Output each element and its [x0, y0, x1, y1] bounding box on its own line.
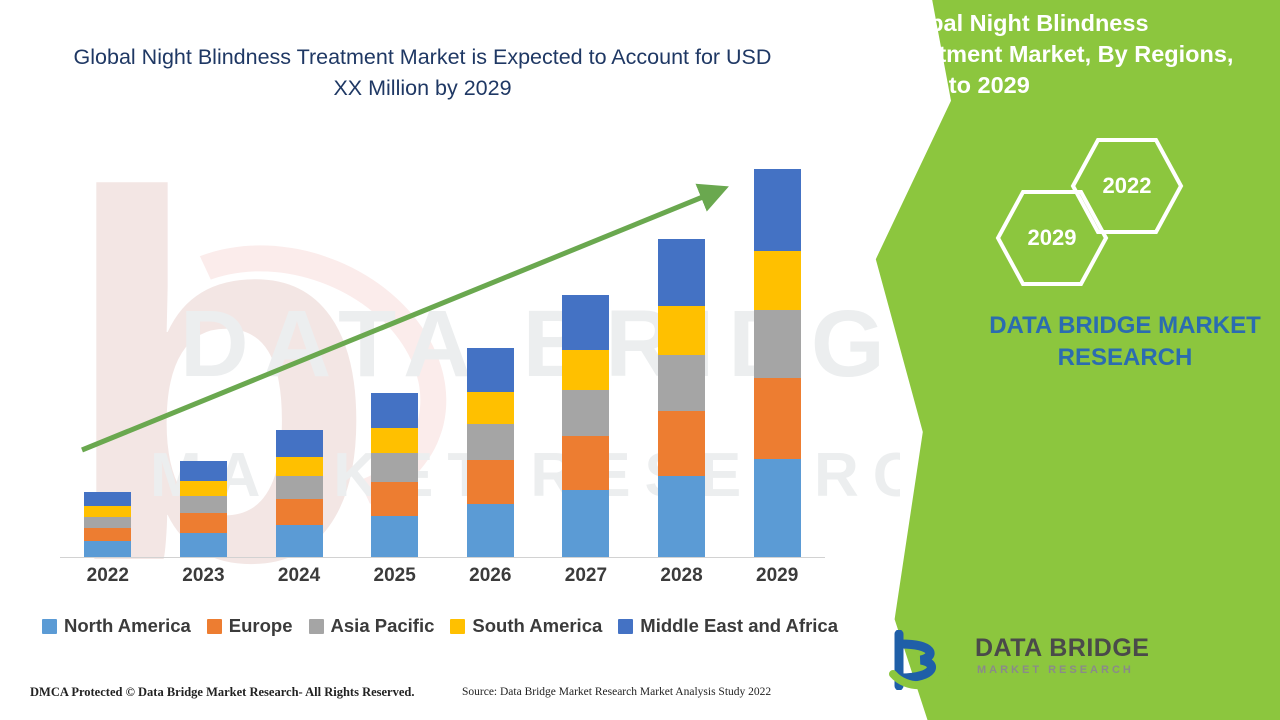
bar-segment[interactable]: [276, 499, 323, 525]
slide-root: b DATA BRIDGE MARKET RESEARCH Global Nig…: [0, 0, 1280, 720]
footer-copyright: DMCA Protected © Data Bridge Market Rese…: [30, 685, 415, 700]
bar-segment[interactable]: [467, 348, 514, 392]
bar-segment[interactable]: [180, 513, 227, 533]
bar-segment[interactable]: [467, 504, 514, 557]
x-axis-label: 2025: [347, 565, 443, 587]
bar-segment[interactable]: [754, 251, 801, 310]
x-axis-label: 2028: [634, 565, 730, 587]
bar-column[interactable]: [60, 110, 156, 557]
bar-segment[interactable]: [658, 355, 705, 411]
bar-column[interactable]: [538, 110, 634, 557]
chart-title: Global Night Blindness Treatment Market …: [60, 42, 785, 104]
bar-column[interactable]: [156, 110, 252, 557]
bar-segment[interactable]: [467, 392, 514, 424]
legend-swatch: [450, 619, 465, 634]
brand-label: DATA BRIDGE MARKET RESEARCH: [960, 310, 1280, 375]
legend-label: South America: [472, 615, 602, 637]
bar-segment[interactable]: [84, 492, 131, 506]
logo: DATA BRIDGE MARKET RESEARCH: [885, 630, 1115, 692]
legend-label: North America: [64, 615, 191, 637]
bar-segment[interactable]: [562, 390, 609, 436]
legend-item[interactable]: South America: [450, 615, 602, 637]
legend-label: Asia Pacific: [331, 615, 435, 637]
logo-name: DATA BRIDGE: [975, 634, 1149, 663]
bar-segment[interactable]: [658, 239, 705, 306]
bar-segment[interactable]: [754, 378, 801, 459]
bar-segment[interactable]: [276, 476, 323, 498]
stacked-bar[interactable]: [658, 239, 705, 557]
bar-segment[interactable]: [276, 430, 323, 457]
stacked-bar[interactable]: [562, 295, 609, 557]
bar-segment[interactable]: [562, 350, 609, 390]
x-axis-label: 2024: [251, 565, 347, 587]
bar-segment[interactable]: [84, 506, 131, 516]
x-axis-label: 2023: [156, 565, 252, 587]
data-bridge-logo-icon: [885, 630, 965, 690]
bar-segment[interactable]: [562, 436, 609, 490]
bar-segment[interactable]: [562, 490, 609, 557]
bar-segment[interactable]: [562, 295, 609, 350]
bar-segment[interactable]: [276, 525, 323, 557]
bar-segment[interactable]: [371, 393, 418, 428]
legend-item[interactable]: North America: [42, 615, 191, 637]
bar-segment[interactable]: [754, 459, 801, 557]
hexagon-2022-label: 2022: [1103, 173, 1152, 199]
x-axis-line: [60, 557, 825, 558]
legend-swatch: [618, 619, 633, 634]
bar-segment[interactable]: [180, 461, 227, 482]
hexagon-2022: 2022: [1068, 134, 1186, 238]
bar-segment[interactable]: [84, 528, 131, 541]
bar-segment[interactable]: [371, 516, 418, 557]
hexagon-2029-label: 2029: [1028, 225, 1077, 251]
stacked-bar[interactable]: [754, 169, 801, 557]
x-axis-label: 2027: [538, 565, 634, 587]
bar-segment[interactable]: [371, 482, 418, 516]
legend-swatch: [309, 619, 324, 634]
bar-segment[interactable]: [658, 306, 705, 355]
bar-column[interactable]: [251, 110, 347, 557]
bar-segment[interactable]: [180, 496, 227, 513]
bar-segment[interactable]: [371, 428, 418, 453]
footer-source: Source: Data Bridge Market Research Mark…: [462, 686, 771, 698]
bar-column[interactable]: [729, 110, 825, 557]
bar-segment[interactable]: [84, 541, 131, 557]
stacked-bar[interactable]: [371, 393, 418, 557]
legend-item[interactable]: Middle East and Africa: [618, 615, 838, 637]
bar-segment[interactable]: [754, 169, 801, 251]
legend-item[interactable]: Asia Pacific: [309, 615, 435, 637]
x-axis-label: 2022: [60, 565, 156, 587]
legend-swatch: [42, 619, 57, 634]
legend-item[interactable]: Europe: [207, 615, 293, 637]
bar-segment[interactable]: [180, 533, 227, 557]
bar-column[interactable]: [634, 110, 730, 557]
legend-label: Europe: [229, 615, 293, 637]
panel-title: Global Night Blindness Treatment Market,…: [890, 8, 1256, 101]
legend-label: Middle East and Africa: [640, 615, 838, 637]
bar-segment[interactable]: [467, 460, 514, 503]
bar-column[interactable]: [443, 110, 539, 557]
stacked-bar[interactable]: [180, 461, 227, 557]
stacked-bar[interactable]: [467, 348, 514, 557]
chart-plot-area: [60, 110, 825, 558]
bar-segment[interactable]: [467, 424, 514, 461]
x-axis-labels: 20222023202420252026202720282029: [60, 565, 825, 587]
logo-tagline: MARKET RESEARCH: [977, 664, 1134, 676]
bar-segment[interactable]: [754, 310, 801, 378]
stacked-bar[interactable]: [84, 492, 131, 557]
bar-segment[interactable]: [180, 481, 227, 496]
x-axis-label: 2026: [443, 565, 539, 587]
x-axis-label: 2029: [729, 565, 825, 587]
bar-segment[interactable]: [84, 517, 131, 528]
bar-column[interactable]: [347, 110, 443, 557]
chart-legend: North AmericaEuropeAsia PacificSouth Ame…: [45, 615, 835, 637]
bar-segment[interactable]: [658, 411, 705, 477]
legend-swatch: [207, 619, 222, 634]
bar-segment[interactable]: [276, 457, 323, 477]
bar-group: [60, 110, 825, 557]
stacked-bar[interactable]: [276, 430, 323, 557]
bar-segment[interactable]: [371, 453, 418, 482]
bar-segment[interactable]: [658, 476, 705, 557]
